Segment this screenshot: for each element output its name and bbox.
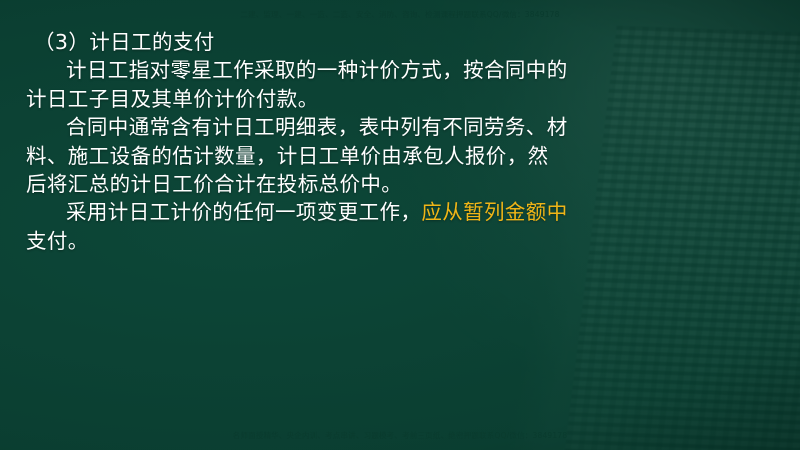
bottom-banner-text: 名师面授精华、央企内训、考点串讲、习题模考、考前三页纸、绝密押题联系QQ/微信：… (0, 432, 800, 440)
paragraph-1-continued: 计日工子目及其单价计价付款。 (26, 85, 606, 113)
slide-heading: （3）计日工的支付 (26, 28, 606, 56)
paragraph-1: 计日工指对零星工作采取的一种计价方式，按合同中的 (26, 56, 606, 84)
slide-body: （3）计日工的支付 计日工指对零星工作采取的一种计价方式，按合同中的 计日工子目… (26, 28, 606, 255)
paragraph-3-line-1-plain: 采用计日工计价的任何一项变更工作， (66, 200, 421, 224)
paragraph-2: 合同中通常含有计日工明细表，表中列有不同劳务、材 (26, 113, 606, 141)
top-banner-text: 二建、监理、一建、一造、二造、安全、消防、咨询、检测课程押题联系QQ/微信：38… (0, 11, 800, 19)
paragraph-1-line-1: 计日工指对零星工作采取的一种计价方式，按合同中的 (66, 58, 568, 82)
presentation-slide: 二建、监理、一建、一造、二造、安全、消防、咨询、检测课程押题联系QQ/微信：38… (0, 0, 800, 450)
paragraph-2-continued-a: 料、施工设备的估计数量，计日工单价由承包人报价，然 (26, 142, 606, 170)
paragraph-3: 采用计日工计价的任何一项变更工作，应从暂列金额中 (26, 198, 606, 226)
paragraph-2-continued-b: 后将汇总的计日工价合计在投标总价中。 (26, 170, 606, 198)
paragraph-1-line-2: 计日工子目及其单价计价付款。 (26, 87, 319, 111)
paragraph-3-continued: 支付。 (26, 227, 606, 255)
paragraph-3-line-2: 支付。 (26, 229, 89, 253)
paragraph-2-line-2: 料、施工设备的估计数量，计日工单价由承包人报价，然 (26, 144, 549, 168)
highlighted-phrase: 应从暂列金额中 (421, 200, 567, 224)
paragraph-2-line-3: 后将汇总的计日工价合计在投标总价中。 (26, 172, 402, 196)
paragraph-2-line-1: 合同中通常含有计日工明细表，表中列有不同劳务、材 (66, 115, 568, 139)
